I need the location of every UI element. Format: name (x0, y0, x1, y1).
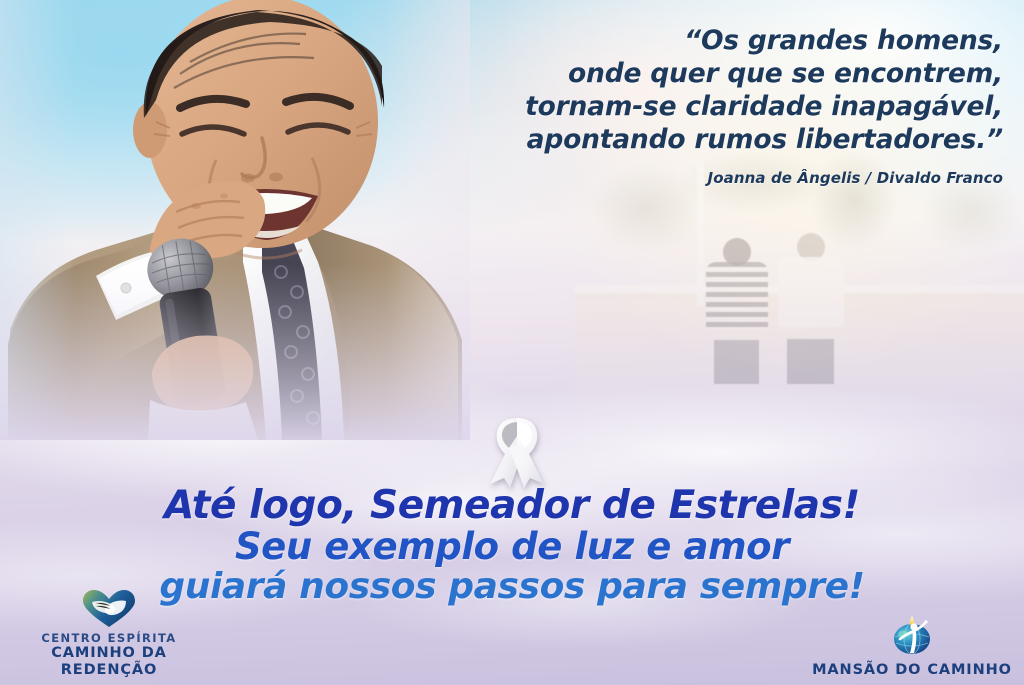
logo-mansao-do-caminho: MANSÃO DO CAMINHO (800, 613, 1024, 679)
logo-centro-espirita-caminho-da-redencao: CENTRO ESPÍRITA CAMINHO DA REDENÇÃO (0, 589, 218, 679)
headline-line-2: Seu exemplo de luz e amor (0, 528, 1024, 566)
globe-figure-flame-icon (889, 613, 935, 657)
logo-left-line-2: CAMINHO DA REDENÇÃO (0, 645, 218, 679)
headline-line-1: Até logo, Semeador de Estrelas! (0, 486, 1024, 526)
divaldo-franco-portrait (0, 0, 470, 440)
memorial-poster: “Os grandes homens, onde quer que se enc… (0, 0, 1024, 685)
quote-line-1: “Os grandes homens, (455, 24, 1003, 57)
quote-line-2: onde quer que se encontrem, (455, 57, 1003, 90)
logo-right-line-1: MANSÃO DO CAMINHO (812, 662, 1012, 679)
white-ribbon-icon (484, 410, 550, 490)
logo-left-line-1: CENTRO ESPÍRITA (0, 632, 218, 645)
quote-line-4: apontando rumos libertadores.” (455, 123, 1003, 156)
quote-attribution: Joanna de Ângelis / Divaldo Franco (455, 169, 1003, 187)
logo-right-text: MANSÃO DO CAMINHO (812, 660, 1012, 679)
memorial-quote: “Os grandes homens, onde quer que se enc… (455, 24, 1003, 187)
hands-heart-icon (81, 589, 137, 629)
memorial-headline: Até logo, Semeador de Estrelas! Seu exem… (0, 486, 1024, 606)
logo-left-text: CENTRO ESPÍRITA CAMINHO DA REDENÇÃO (0, 632, 218, 679)
quote-line-3: tornam-se claridade inapagável, (455, 90, 1003, 123)
